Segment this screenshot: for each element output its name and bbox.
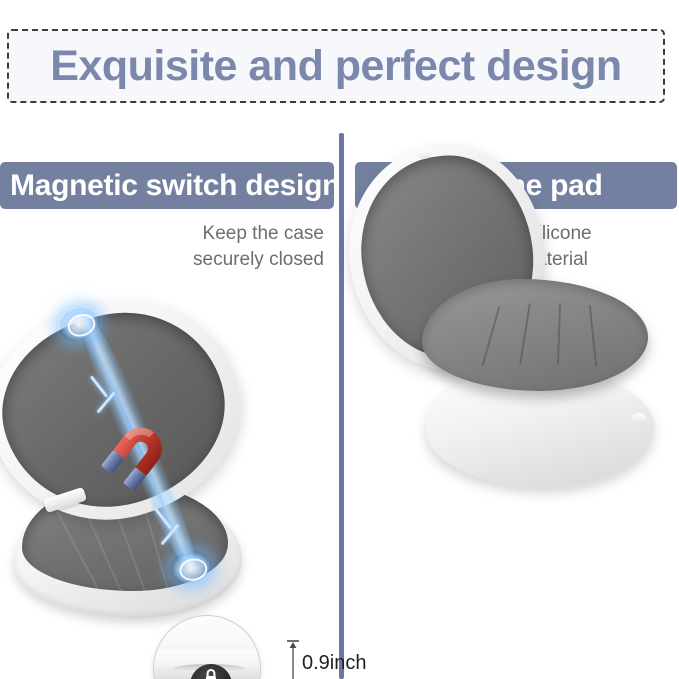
silicone-pad-insert: [422, 279, 648, 391]
section-heading-magnetic-switch: Magnetic switch design: [10, 171, 340, 201]
product-infographic: Exquisite and perfect design Magnetic sw…: [0, 0, 679, 679]
section-heading-banner-magnetic-switch: Magnetic switch design: [0, 162, 334, 209]
illustration-open-case-magnetic-field: 0.9inch: [0, 293, 334, 679]
illustration-case-with-silicone-pad: [350, 145, 679, 665]
section-divider: [339, 133, 344, 679]
subtitle-line: securely closed: [193, 247, 324, 273]
title-banner: Exquisite and perfect design: [7, 29, 665, 103]
dimension-arrow-icon: [286, 639, 300, 679]
section-subtitle-magnetic-switch: Keep the case securely closed: [193, 221, 324, 272]
subtitle-line: Keep the case: [193, 221, 324, 247]
case-base-notch: [632, 413, 646, 423]
page-title: Exquisite and perfect design: [50, 45, 621, 88]
magnetic-lock-detail-callout: [153, 615, 261, 679]
